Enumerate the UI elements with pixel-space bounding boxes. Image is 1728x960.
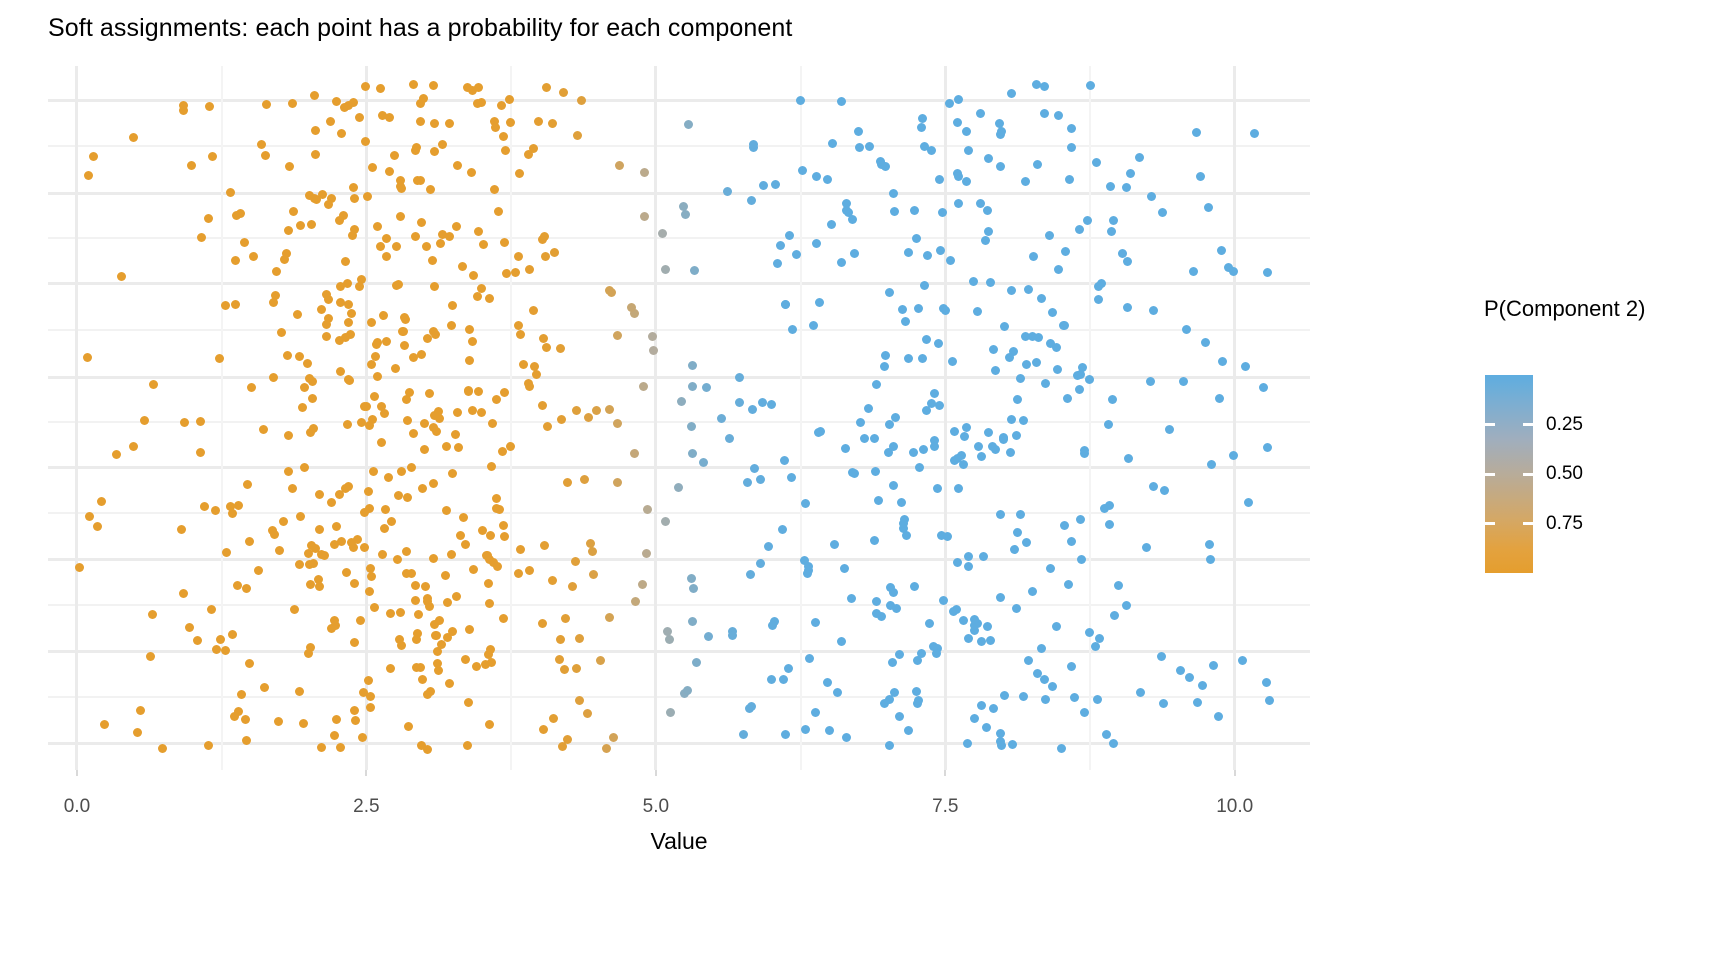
data-point xyxy=(935,175,944,184)
data-point xyxy=(85,512,94,521)
data-point xyxy=(892,604,901,613)
data-point xyxy=(500,238,509,247)
data-point xyxy=(702,383,711,392)
data-point xyxy=(962,127,971,136)
data-point xyxy=(704,632,713,641)
data-point xyxy=(964,634,973,643)
data-point xyxy=(910,206,919,215)
data-point xyxy=(344,318,353,327)
data-point xyxy=(442,506,451,515)
data-point xyxy=(542,83,551,92)
data-point xyxy=(890,207,899,216)
data-point xyxy=(373,222,382,231)
data-point xyxy=(486,531,495,540)
data-point xyxy=(925,619,934,628)
data-point xyxy=(986,278,995,287)
data-point xyxy=(1067,662,1076,671)
data-point xyxy=(885,288,894,297)
data-point xyxy=(764,542,773,551)
data-point xyxy=(350,638,359,647)
data-point xyxy=(870,434,879,443)
data-point xyxy=(1037,294,1046,303)
data-point xyxy=(539,334,548,343)
gridline-vertical-minor xyxy=(510,66,512,770)
data-point xyxy=(946,256,955,265)
data-point xyxy=(1028,332,1037,341)
data-point xyxy=(555,655,564,664)
gridline-horizontal-minor xyxy=(48,145,1310,147)
data-point xyxy=(149,380,158,389)
data-point xyxy=(445,119,454,128)
data-point xyxy=(1022,360,1031,369)
data-point xyxy=(422,242,431,251)
data-point xyxy=(1008,740,1017,749)
data-point xyxy=(378,550,387,559)
data-point xyxy=(196,417,205,426)
data-point xyxy=(373,372,382,381)
data-point xyxy=(1244,498,1253,507)
data-point xyxy=(402,547,411,556)
plot-panel xyxy=(48,66,1310,770)
data-point xyxy=(823,175,832,184)
data-point xyxy=(872,609,881,618)
data-point xyxy=(484,579,493,588)
data-point xyxy=(117,272,126,281)
data-point xyxy=(548,576,557,585)
data-point xyxy=(897,498,906,507)
data-point xyxy=(1201,338,1210,347)
data-point xyxy=(367,360,376,369)
x-tick-mark xyxy=(1234,770,1236,776)
data-point xyxy=(773,259,782,268)
data-point xyxy=(914,696,923,705)
data-point xyxy=(452,222,461,231)
data-point xyxy=(411,581,420,590)
data-point xyxy=(781,300,790,309)
data-point xyxy=(350,579,359,588)
data-point xyxy=(231,256,240,265)
x-axis-title: Value xyxy=(0,828,1358,855)
data-point xyxy=(977,701,986,710)
data-point xyxy=(1054,111,1063,120)
data-point xyxy=(1102,730,1111,739)
data-point xyxy=(1204,203,1213,212)
data-point xyxy=(1075,385,1084,394)
data-point xyxy=(725,434,734,443)
data-point xyxy=(688,382,697,391)
data-point xyxy=(242,736,251,745)
data-point xyxy=(1108,395,1117,404)
colorbar-tick-label: 0.25 xyxy=(1546,414,1583,436)
data-point xyxy=(1029,252,1038,261)
data-point xyxy=(605,613,614,622)
data-point xyxy=(306,428,315,437)
data-point xyxy=(933,484,942,493)
data-point xyxy=(461,655,470,664)
data-point xyxy=(525,566,534,575)
data-point xyxy=(311,150,320,159)
data-point xyxy=(1157,652,1166,661)
data-point xyxy=(392,281,401,290)
data-point xyxy=(981,236,990,245)
data-point xyxy=(1016,510,1025,519)
data-point xyxy=(524,150,533,159)
data-point xyxy=(295,352,304,361)
data-point xyxy=(434,666,443,675)
data-point xyxy=(1110,611,1119,620)
data-point xyxy=(429,81,438,90)
data-point xyxy=(1179,377,1188,386)
data-point xyxy=(180,418,189,427)
data-point xyxy=(177,525,186,534)
data-point xyxy=(84,171,93,180)
data-point xyxy=(185,623,194,632)
data-point xyxy=(416,176,425,185)
data-point xyxy=(534,117,543,126)
data-point xyxy=(469,271,478,280)
data-point xyxy=(558,742,567,751)
data-point xyxy=(999,435,1008,444)
data-point xyxy=(499,132,508,141)
data-point xyxy=(499,521,508,530)
data-point xyxy=(430,119,439,128)
data-point xyxy=(350,194,359,203)
data-point xyxy=(393,555,402,564)
data-point xyxy=(1040,675,1049,684)
data-point xyxy=(1209,661,1218,670)
data-point xyxy=(787,473,796,482)
data-point xyxy=(1033,160,1042,169)
data-point xyxy=(996,510,1005,519)
data-point xyxy=(556,344,565,353)
data-point xyxy=(963,739,972,748)
data-point xyxy=(841,444,850,453)
data-point xyxy=(483,551,492,560)
legend-title: P(Component 2) xyxy=(1484,296,1645,322)
data-point xyxy=(430,282,439,291)
data-point xyxy=(1193,698,1202,707)
data-point xyxy=(648,332,657,341)
data-point xyxy=(914,304,923,313)
data-point xyxy=(788,325,797,334)
data-point xyxy=(1013,395,1022,404)
data-point xyxy=(977,452,986,461)
data-point xyxy=(380,409,389,418)
data-point xyxy=(1013,528,1022,537)
data-point xyxy=(1136,688,1145,697)
data-point xyxy=(464,698,473,707)
data-point xyxy=(577,96,586,105)
data-point xyxy=(983,206,992,215)
data-point xyxy=(200,502,209,511)
gridline-horizontal-major xyxy=(48,558,1310,561)
data-point xyxy=(506,118,515,127)
data-point xyxy=(216,635,225,644)
gridline-horizontal-major xyxy=(48,466,1310,469)
data-point xyxy=(515,169,524,178)
data-point xyxy=(677,397,686,406)
data-point xyxy=(1106,182,1115,191)
data-point xyxy=(284,226,293,235)
data-point xyxy=(487,462,496,471)
data-point xyxy=(270,530,279,539)
data-point xyxy=(414,610,423,619)
data-point xyxy=(500,532,509,541)
data-point xyxy=(1032,80,1041,89)
data-point xyxy=(572,406,581,415)
data-point xyxy=(1142,543,1151,552)
data-point xyxy=(396,608,405,617)
data-point xyxy=(409,429,418,438)
data-point xyxy=(953,118,962,127)
data-point xyxy=(311,126,320,135)
data-point xyxy=(945,99,954,108)
data-point xyxy=(1165,425,1174,434)
data-point xyxy=(974,442,983,451)
data-point xyxy=(1067,537,1076,546)
data-point xyxy=(370,603,379,612)
data-point xyxy=(960,432,969,441)
colorbar-tick-mark xyxy=(1485,522,1495,525)
data-point xyxy=(969,277,978,286)
data-point xyxy=(271,291,280,300)
data-point xyxy=(254,566,263,575)
data-point xyxy=(403,416,412,425)
data-point xyxy=(930,389,939,398)
gridline-horizontal-minor xyxy=(48,329,1310,331)
data-point xyxy=(349,183,358,192)
data-point xyxy=(269,373,278,382)
data-point xyxy=(1093,695,1102,704)
data-point xyxy=(739,730,748,739)
data-point xyxy=(474,387,483,396)
data-point xyxy=(532,370,541,379)
data-point xyxy=(923,251,932,260)
data-point xyxy=(468,337,477,346)
data-point xyxy=(379,311,388,320)
data-point xyxy=(898,305,907,314)
data-point xyxy=(453,408,462,417)
data-point xyxy=(1067,143,1076,152)
data-point xyxy=(146,652,155,661)
data-point xyxy=(948,357,957,366)
data-point xyxy=(296,512,305,521)
data-point xyxy=(991,366,1000,375)
data-point xyxy=(490,185,499,194)
data-point xyxy=(465,356,474,365)
data-point xyxy=(327,498,336,507)
data-point xyxy=(976,109,985,118)
data-point xyxy=(583,709,592,718)
data-point xyxy=(488,419,497,428)
data-point xyxy=(1010,545,1019,554)
data-point xyxy=(259,425,268,434)
data-point xyxy=(639,382,648,391)
data-point xyxy=(1085,628,1094,637)
data-point xyxy=(409,353,418,362)
data-point xyxy=(538,401,547,410)
data-point xyxy=(917,123,926,132)
data-point xyxy=(856,418,865,427)
data-point xyxy=(417,350,426,359)
x-tick-mark xyxy=(944,770,946,776)
data-point xyxy=(358,733,367,742)
data-point xyxy=(549,714,558,723)
data-point xyxy=(1052,622,1061,631)
data-point xyxy=(575,696,584,705)
data-point xyxy=(501,146,510,155)
data-point xyxy=(75,563,84,572)
data-point xyxy=(436,239,445,248)
data-point xyxy=(1123,303,1132,312)
data-point xyxy=(492,395,501,404)
data-point xyxy=(442,442,451,451)
data-point xyxy=(347,309,356,318)
data-point xyxy=(179,589,188,598)
data-point xyxy=(735,398,744,407)
data-point xyxy=(989,704,998,713)
data-point xyxy=(953,558,962,567)
data-point xyxy=(397,467,406,476)
data-point xyxy=(1057,744,1066,753)
data-point xyxy=(418,484,427,493)
data-point xyxy=(572,664,581,673)
data-point xyxy=(387,517,396,526)
data-point xyxy=(477,408,486,417)
data-point xyxy=(337,129,346,138)
data-point xyxy=(403,493,412,502)
data-point xyxy=(1207,460,1216,469)
data-point xyxy=(640,212,649,221)
data-point xyxy=(563,478,572,487)
data-point xyxy=(1048,308,1057,317)
data-point xyxy=(811,708,820,717)
data-point xyxy=(550,248,559,257)
data-point xyxy=(497,101,506,110)
data-point xyxy=(927,146,936,155)
gridline-horizontal-major xyxy=(48,282,1310,285)
data-point xyxy=(837,258,846,267)
data-point xyxy=(112,450,121,459)
data-point xyxy=(1040,109,1049,118)
data-point xyxy=(938,208,947,217)
data-point xyxy=(613,478,622,487)
data-point xyxy=(459,513,468,522)
colorbar-tick-mark xyxy=(1485,423,1495,426)
data-point xyxy=(970,714,979,723)
data-point xyxy=(394,491,403,500)
data-point xyxy=(392,242,401,251)
data-point xyxy=(419,94,428,103)
data-point xyxy=(365,421,374,430)
data-point xyxy=(1092,158,1101,167)
data-point xyxy=(756,559,765,568)
colorbar-tick-mark xyxy=(1523,473,1533,476)
data-point xyxy=(1250,129,1259,138)
data-point xyxy=(129,442,138,451)
data-point xyxy=(326,117,335,126)
data-point xyxy=(996,162,1005,171)
data-point xyxy=(609,733,618,742)
data-point xyxy=(208,152,217,161)
gridline-horizontal-major xyxy=(48,650,1310,653)
x-tick-label: 10.0 xyxy=(1216,796,1253,818)
data-point xyxy=(341,257,350,266)
data-point xyxy=(1052,343,1061,352)
data-point xyxy=(421,582,430,591)
data-point xyxy=(272,267,281,276)
data-point xyxy=(1147,192,1156,201)
colorbar-tick-mark xyxy=(1485,473,1495,476)
data-point xyxy=(1032,358,1041,367)
data-point xyxy=(529,306,538,315)
data-point xyxy=(481,660,490,669)
data-point xyxy=(556,635,565,644)
data-point xyxy=(1159,699,1168,708)
data-point xyxy=(425,389,434,398)
data-point xyxy=(1176,666,1185,675)
data-point xyxy=(573,131,582,140)
data-point xyxy=(954,199,963,208)
data-point xyxy=(222,548,231,557)
data-point xyxy=(941,306,950,315)
data-point xyxy=(840,564,849,573)
data-point xyxy=(837,97,846,106)
data-point xyxy=(889,189,898,198)
data-point xyxy=(409,80,418,89)
data-point xyxy=(187,161,196,170)
data-point xyxy=(364,487,373,496)
data-point xyxy=(1095,634,1104,643)
data-point xyxy=(420,419,429,428)
data-point xyxy=(758,398,767,407)
data-point xyxy=(322,320,331,329)
data-point xyxy=(784,664,793,673)
data-point xyxy=(855,143,864,152)
data-point xyxy=(827,220,836,229)
data-point xyxy=(688,361,697,370)
data-point xyxy=(542,343,551,352)
data-point xyxy=(949,607,958,616)
data-point xyxy=(447,321,456,330)
data-point xyxy=(283,351,292,360)
data-point xyxy=(541,252,550,261)
data-point xyxy=(382,252,391,261)
data-point xyxy=(1012,431,1021,440)
data-point xyxy=(260,683,269,692)
data-point xyxy=(341,484,350,493)
data-point xyxy=(494,207,503,216)
data-point xyxy=(842,733,851,742)
data-point xyxy=(308,377,317,386)
data-point xyxy=(324,295,333,304)
data-point xyxy=(384,473,393,482)
data-point xyxy=(290,605,299,614)
data-point xyxy=(514,569,523,578)
data-point xyxy=(351,716,360,725)
data-point xyxy=(687,574,696,583)
data-point xyxy=(485,599,494,608)
data-point xyxy=(964,146,973,155)
data-point xyxy=(473,292,482,301)
data-point xyxy=(1158,208,1167,217)
data-point xyxy=(228,630,237,639)
data-point xyxy=(1007,286,1016,295)
data-point xyxy=(1123,257,1132,266)
data-point xyxy=(514,252,523,261)
data-point xyxy=(525,265,534,274)
data-point xyxy=(492,494,501,503)
